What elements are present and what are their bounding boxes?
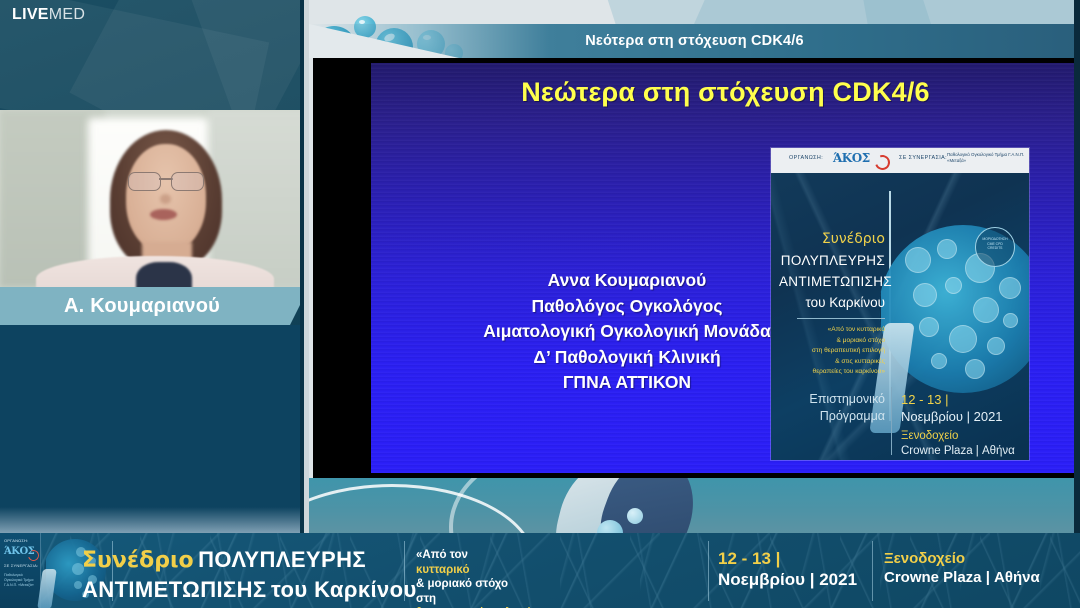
slide-body-line: Αιματολογική Ογκολογική Μονάδα	[427, 319, 827, 345]
poster-line-1: Συνέδριο	[785, 231, 885, 247]
glasses-lens-left	[128, 172, 161, 191]
poster-partner-name: Παθολογικό Ογκολογικό Τμήμα Γ.Α.Ν.Π. «Με…	[947, 152, 1029, 165]
poster-dates-white: Νοεμβρίου | 2021	[901, 409, 1003, 424]
banner-org-label: ΟΡΓΑΝΩΣΗ:	[4, 538, 28, 543]
banner-dates: 12 - 13 | Νοεμβρίου | 2021	[718, 548, 857, 590]
slide-body-line: Αννα Κουμαριανού	[427, 268, 827, 294]
poster-venue-gold: Ξενοδοχείο	[901, 430, 958, 442]
banner-slogan: «Από τον κυτταρικό & μοριακό στόχο στη θ…	[416, 548, 706, 608]
slogan-seg: στη	[416, 592, 706, 607]
banner-partner-label: ΣΕ ΣΥΝΕΡΓΑΣΙΑ:	[4, 563, 38, 568]
poster-program-line1: Επιστημονικό	[809, 392, 885, 406]
banner-title-gold: Συνέδριο	[82, 548, 194, 573]
poster-line-3: ΑΝΤΙΜΕΤΩΠΙΣΗΣ	[779, 274, 885, 289]
poster-dates: 12 - 13 | Νοεμβρίου | 2021	[901, 391, 1003, 425]
speaker-mouth	[150, 209, 177, 220]
banner-title-line-2: ΑΝΤΙΜΕΤΩΠΙΣΗΣ του Καρκίνου	[82, 576, 412, 606]
session-title-bar: Νεότερα στη στόχευση CDK4/6	[309, 24, 1080, 58]
banner-title-white-3: του Καρκίνου	[271, 577, 417, 602]
poster-header: ΟΡΓΑΝΩΣΗ: ΆΚΟΣ ΣΕ ΣΥΝΕΡΓΑΣΙΑ: Παθολογικό…	[771, 148, 1029, 173]
poster-dates-gold: 12 - 13 |	[901, 392, 948, 407]
congress-bottom-banner: ΟΡΓΑΝΩΣΗ: ΆΚΟΣ ΣΕ ΣΥΝΕΡΓΑΣΙΑ: Παθολογικό…	[0, 533, 1080, 608]
session-title: Νεότερα στη στόχευση CDK4/6	[309, 24, 1080, 58]
congress-poster: ΟΡΓΑΝΩΣΗ: ΆΚΟΣ ΣΕ ΣΥΝΕΡΓΑΣΙΑ: Παθολογικό…	[771, 148, 1029, 460]
slogan-seg: & μοριακό στόχο	[416, 577, 706, 592]
slogan-seg: «Από τον	[416, 548, 706, 563]
banner-slogan-line-2: στη θεραπευτική επιλογή	[416, 592, 706, 608]
slide-body-line: ΓΠΝΑ ΑΤΤΙΚΟΝ	[427, 370, 827, 396]
livemed-logo[interactable]: LIVEMED	[12, 6, 85, 24]
akos-swirl-icon	[873, 153, 893, 173]
banner-title-white-2: ΑΝΤΙΜΕΤΩΠΙΣΗΣ	[82, 577, 267, 602]
banner-org-logo-box: ΟΡΓΑΝΩΣΗ: ΆΚΟΣ ΣΕ ΣΥΝΕΡΓΑΣΙΑ: Παθολογικό…	[0, 533, 41, 608]
webinar-player: LIVEMED Α. Κουμαριανού	[0, 0, 1080, 608]
poster-venue: Ξενοδοχείο Crowne Plaza | Αθήνα	[901, 429, 1015, 459]
banner-divider	[872, 541, 873, 601]
speaker-nose	[160, 194, 171, 204]
slogan-highlight: κυτταρικό	[416, 564, 470, 576]
speaker-shirt	[136, 262, 192, 287]
banner-partner-name: Παθολογικό Ογκολογικό Τμήμα Γ.Α.Ν.Π. «Με…	[4, 573, 38, 588]
poster-body: ΜΟΡΙΟΔΟΤΗΣΗ CME CPD CREDITS Συνέδριο ΠΟΛ…	[771, 173, 1029, 460]
poster-vertical-rule-2	[891, 387, 892, 455]
poster-program: Επιστημονικό Πρόγραμμα	[777, 391, 885, 425]
poster-partner-label: ΣΕ ΣΥΝΕΡΓΑΣΙΑ:	[899, 155, 947, 161]
banner-venue: Ξενοδοχείο Crowne Plaza | Αθήνα	[884, 549, 1040, 587]
banner-dates-white: Νοεμβρίου | 2021	[718, 569, 857, 590]
left-panel-filler	[0, 325, 304, 533]
slide-frame[interactable]: Νεώτερα στη στόχευση CDK4/6 Αννα Κουμαρι…	[313, 58, 1080, 478]
slide-body-line: Δ’ Παθολογική Κλινική	[427, 345, 827, 371]
speaker-glasses	[128, 172, 204, 189]
presentation-panel: Νεότερα στη στόχευση CDK4/6 Νεώτερα στη …	[309, 0, 1080, 533]
poster-org-name: ΆΚΟΣ	[833, 151, 870, 165]
bubble-icon	[627, 508, 643, 524]
poster-line-2: ΠΟΛΥΠΛΕΥΡΗΣ	[779, 253, 885, 268]
banner-title-line-1: Συνέδριο ΠΟΛΥΠΛΕΥΡΗΣ	[82, 546, 412, 576]
banner-congress-title: Συνέδριο ΠΟΛΥΠΛΕΥΡΗΣ ΑΝΤΙΜΕΤΩΠΙΣΗΣ του Κ…	[82, 546, 412, 606]
speaker-name-banner: Α. Κουμαριανού	[0, 287, 290, 325]
banner-slogan-line-1: «Από τον κυτταρικό & μοριακό στόχο	[416, 548, 706, 592]
speaker-video[interactable]	[0, 110, 308, 287]
slide-title: Νεώτερα στη στόχευση CDK4/6	[371, 77, 1080, 108]
poster-venue-white: Crowne Plaza | Αθήνα	[901, 445, 1015, 457]
livemed-logo-med: MED	[49, 6, 85, 23]
poster-org-label: ΟΡΓΑΝΩΣΗ:	[789, 155, 823, 161]
slide-footer-graphic	[309, 478, 1080, 533]
poster-rule	[797, 318, 885, 319]
left-panel-fade	[0, 507, 304, 533]
poster-credits-badge: ΜΟΡΙΟΔΟΤΗΣΗ CME CPD CREDITS	[975, 227, 1015, 267]
poster-line-4: του Καρκίνου	[779, 295, 885, 310]
slide-body: Αννα Κουμαριανού Παθολόγος Ογκολόγος Αιμ…	[427, 268, 827, 396]
banner-venue-white: Crowne Plaza | Αθήνα	[884, 568, 1040, 587]
banner-venue-gold: Ξενοδοχείο	[884, 549, 1040, 568]
left-panel: LIVEMED Α. Κουμαριανού	[0, 0, 308, 533]
banner-dates-gold: 12 - 13 |	[718, 548, 857, 569]
slide-content: Νεώτερα στη στόχευση CDK4/6 Αννα Κουμαρι…	[371, 63, 1080, 473]
speaker-name-label: Α. Κουμαριανού	[0, 287, 290, 325]
poster-program-line2: Πρόγραμμα	[820, 409, 885, 423]
livemed-logo-live: LIVE	[12, 6, 49, 23]
glasses-lens-right	[171, 172, 204, 191]
poster-credits-text: ΜΟΡΙΟΔΟΤΗΣΗ CME CPD CREDITS	[981, 237, 1009, 251]
poster-slogan: «Από τον κυτταρικό & μοριακό στόχο στη θ…	[777, 325, 885, 378]
banner-divider	[708, 541, 709, 601]
banner-title-white-1: ΠΟΛΥΠΛΕΥΡΗΣ	[198, 547, 366, 572]
slide-body-line: Παθολόγος Ογκολόγος	[427, 294, 827, 320]
